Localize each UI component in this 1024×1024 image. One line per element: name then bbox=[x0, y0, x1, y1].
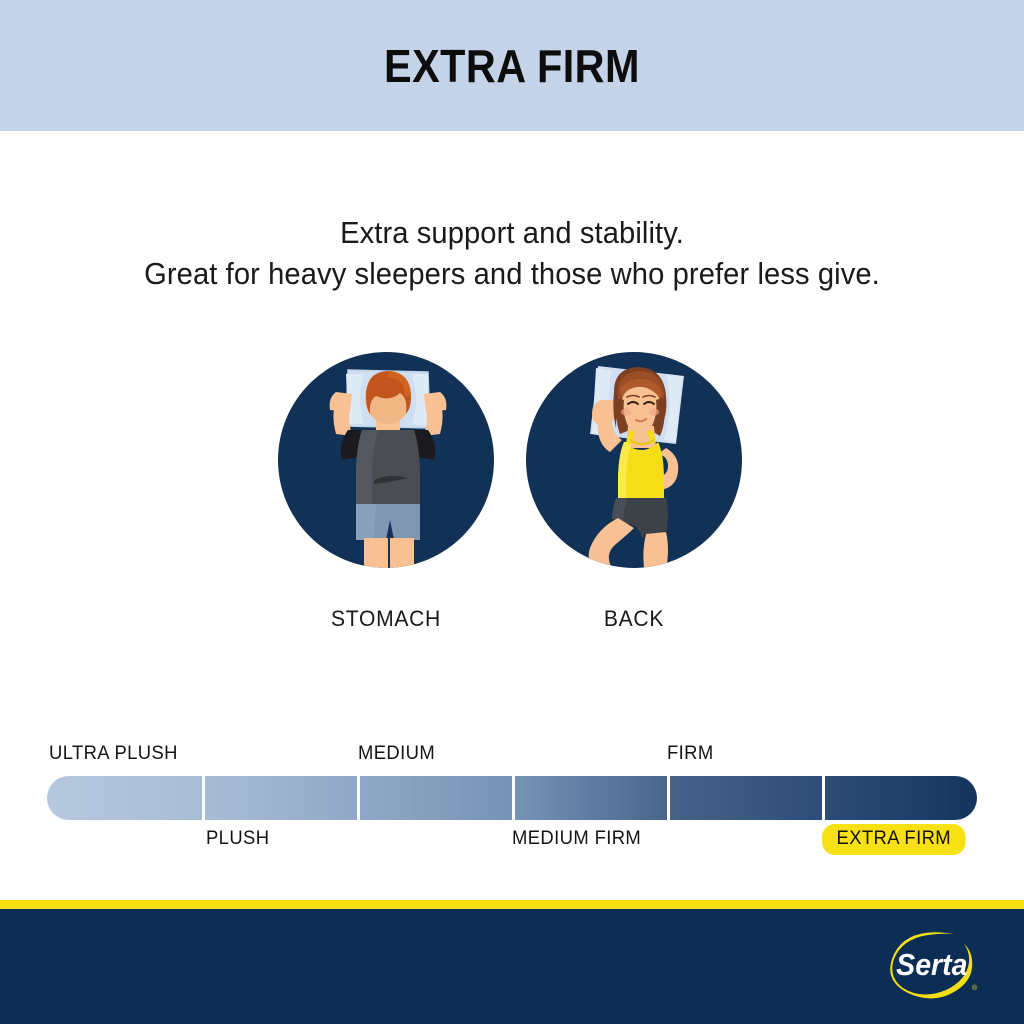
stomach-sleeper-circle bbox=[278, 352, 494, 568]
firmness-label-ultra-plush: ULTRA PLUSH bbox=[49, 743, 178, 765]
firmness-labels-below: PLUSH MEDIUM FIRM EXTRA FIRM bbox=[0, 828, 1024, 854]
firmness-labels-above: ULTRA PLUSH MEDIUM FIRM bbox=[0, 743, 1024, 769]
back-sleeper-illustration bbox=[526, 352, 742, 568]
description-line-2: Great for heavy sleepers and those who p… bbox=[31, 253, 994, 294]
serta-logo: Serta ® bbox=[884, 928, 982, 1000]
firmness-scale: ULTRA PLUSH MEDIUM FIRM PLUSH MEDIUM FIR… bbox=[0, 735, 1024, 865]
product-firmness-infographic: EXTRA FIRM Extra support and stability. … bbox=[0, 0, 1024, 1024]
sleep-position-label-back: BACK bbox=[530, 606, 737, 632]
firmness-label-medium-firm: MEDIUM FIRM bbox=[512, 828, 641, 850]
stomach-sleeper-illustration bbox=[278, 352, 494, 568]
firmness-gradient-bar bbox=[47, 776, 977, 820]
firmness-segment-divider bbox=[202, 776, 205, 820]
serta-logo-mark: Serta ® bbox=[884, 928, 982, 1000]
description-line-1: Extra support and stability. bbox=[31, 212, 994, 253]
firmness-label-medium: MEDIUM bbox=[358, 743, 435, 765]
firmness-segment-divider bbox=[512, 776, 515, 820]
sleep-position-label-stomach: STOMACH bbox=[282, 606, 489, 632]
firmness-selected-badge: EXTRA FIRM bbox=[822, 824, 966, 855]
serta-wordmark: Serta bbox=[896, 948, 967, 982]
firmness-label-plush: PLUSH bbox=[206, 828, 269, 850]
back-sleeper-circle bbox=[526, 352, 742, 568]
sleep-position-back: BACK bbox=[526, 352, 742, 632]
footer-accent-stripe bbox=[0, 900, 1024, 909]
registered-trademark-icon: ® bbox=[972, 984, 978, 992]
sleep-positions: STOMACH bbox=[0, 352, 1024, 642]
footer-band bbox=[0, 909, 1024, 1024]
firmness-segment-divider bbox=[357, 776, 360, 820]
page-title: EXTRA FIRM bbox=[51, 0, 973, 131]
sleep-position-stomach: STOMACH bbox=[278, 352, 494, 632]
firmness-label-firm: FIRM bbox=[667, 743, 714, 765]
firmness-segment-divider bbox=[822, 776, 825, 820]
firmness-segment-divider bbox=[667, 776, 670, 820]
description-text: Extra support and stability. Great for h… bbox=[0, 212, 1024, 294]
